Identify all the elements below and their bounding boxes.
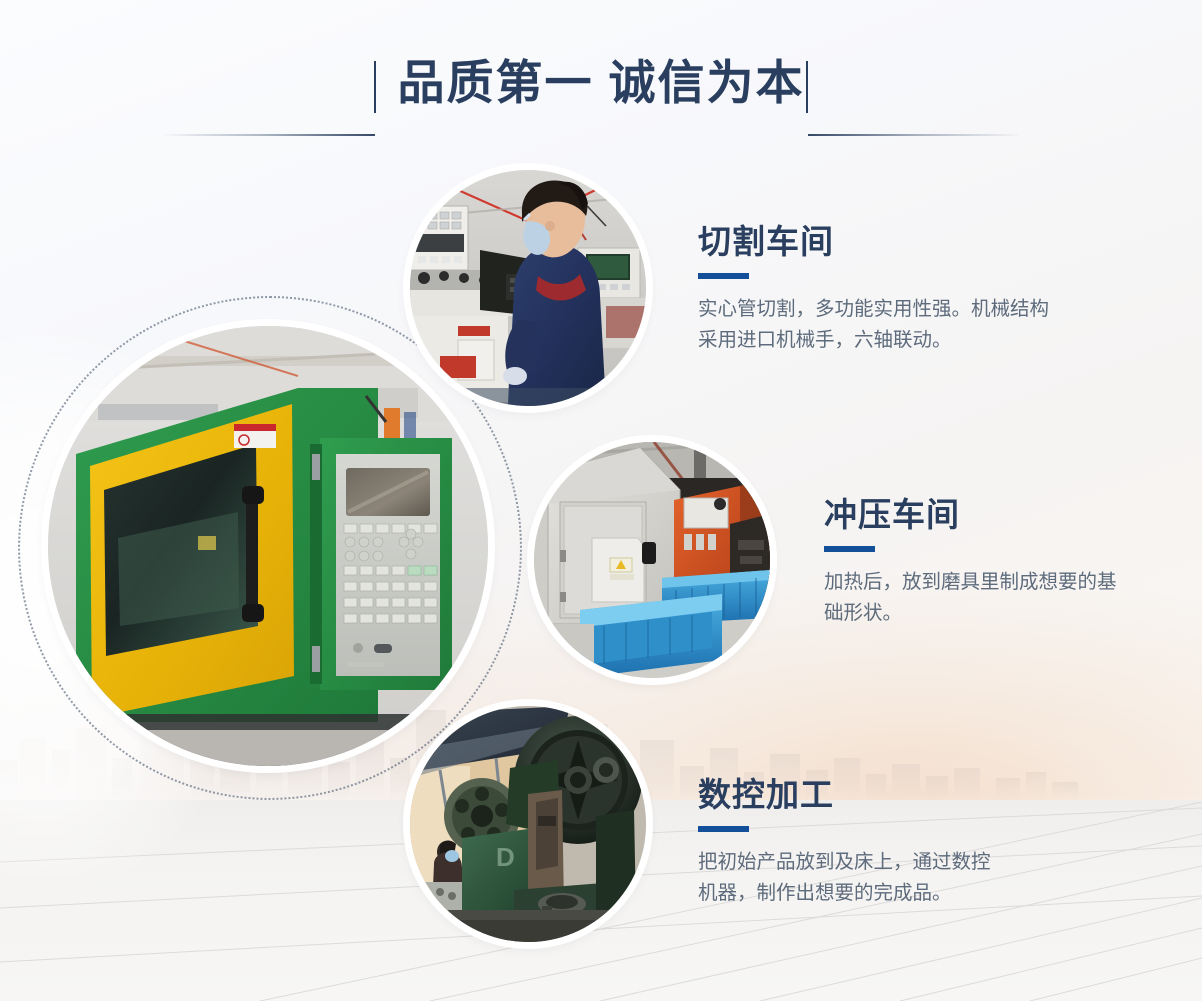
page-title: 品质第一 诚信为本 (0, 48, 1202, 118)
section-title-stamping-workshop: 冲压车间 (824, 495, 1117, 535)
section-desc-cutting-workshop: 实心管切割，多功能实用性强。机械结构 采用进口机械手，六轴联动。 (698, 294, 1049, 356)
section-rule-stamping-workshop (824, 546, 875, 552)
section-title-cnc-machining: 数控加工 (698, 775, 991, 815)
page-header: 品质第一 诚信为本 (0, 48, 1202, 128)
section-photo-cnc-machining: D (410, 706, 646, 942)
section-rule-cutting-workshop (698, 273, 749, 279)
section-rule-cnc-machining (698, 826, 749, 832)
section-block-stamping-workshop: 冲压车间 加热后，放到磨具里制成想要的基 础形状。 (824, 495, 1117, 629)
section-title-cutting-workshop: 切割车间 (698, 222, 1049, 262)
section-desc-cnc-machining: 把初始产品放到及床上，通过数控 机器，制作出想要的完成品。 (698, 847, 991, 909)
header-rule-right (808, 134, 1018, 136)
section-photo-stamping-workshop (534, 442, 770, 678)
header-tick-right (806, 61, 808, 113)
svg-text:D: D (496, 842, 515, 872)
section-block-cnc-machining: 数控加工 把初始产品放到及床上，通过数控 机器，制作出想要的完成品。 (698, 775, 991, 909)
promo-page: 品质第一 诚信为本 (0, 0, 1202, 1001)
section-photo-cutting-workshop (410, 170, 646, 406)
section-desc-stamping-workshop: 加热后，放到磨具里制成想要的基 础形状。 (824, 567, 1117, 629)
header-rule-left (165, 134, 375, 136)
section-block-cutting-workshop: 切割车间 实心管切割，多功能实用性强。机械结构 采用进口机械手，六轴联动。 (698, 222, 1049, 356)
